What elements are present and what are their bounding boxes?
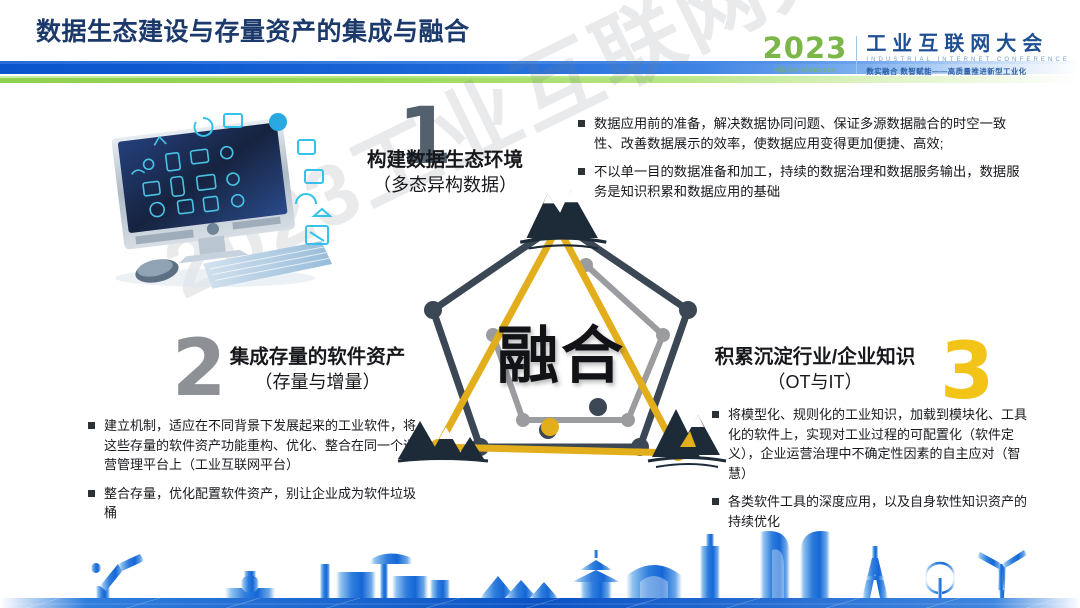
bullet-text: 建立机制，适应在不同背景下发展起来的工业软件，将这些存量的软件资产功能重构、优化… xyxy=(104,416,418,475)
bullet-text: 将模型化、规则化的工业知识，加载到模块化、工具化的软件上，实现对工业过程的可配置… xyxy=(728,405,1032,483)
conference-logo: 2023 中国·苏州 9月14日-16日 工业互联网大会 INDUSTRIAL … xyxy=(763,34,1070,77)
bullet-square-icon xyxy=(88,422,95,429)
logo-name-en: INDUSTRIAL INTERNET CONFERENCE xyxy=(866,57,1070,63)
logo-name-cn: 工业互联网大会 xyxy=(866,34,1070,55)
logo-tagline: 数实融合 数智赋能——高质量推进新型工业化 xyxy=(866,66,1070,77)
bullet-text: 整合存量，优化配置软件资产，别让企业成为软件垃圾桶 xyxy=(104,484,418,523)
bullet-square-icon xyxy=(578,120,585,127)
list-item: 整合存量，优化配置软件资产，别让企业成为软件垃圾桶 xyxy=(88,484,418,523)
bullet-text: 数据应用前的准备，解决数据协同问题、保证多源数据融合的时空一致性、改善数据展示的… xyxy=(594,114,1026,153)
slide: 数据生态建设与存量资产的集成与融合 2023 中国·苏州 9月14日-16日 工… xyxy=(0,0,1080,608)
section-heading-2: 集成存量的软件资产 （存量与增量） xyxy=(205,345,430,395)
bullet-list-2: 建立机制，适应在不同背景下发展起来的工业软件，将这些存量的软件资产功能重构、优化… xyxy=(88,416,418,532)
list-item: 各类软件工具的深度应用，以及自身软性知识资产的持续优化 xyxy=(712,492,1032,531)
page-title: 数据生态建设与存量资产的集成与融合 xyxy=(36,12,470,48)
logo-year-block: 2023 中国·苏州 9月14日-16日 xyxy=(763,34,857,74)
section-heading-2-subtitle: （存量与增量） xyxy=(205,370,430,394)
desktop-computer-icon xyxy=(100,108,335,293)
section-number-3: 3 xyxy=(940,333,994,411)
logo-name-block: 工业互联网大会 INDUSTRIAL INTERNET CONFERENCE 数… xyxy=(857,34,1070,77)
bullet-list-3: 将模型化、规则化的工业知识，加载到模块化、工具化的软件上，实现对工业过程的可配置… xyxy=(712,405,1032,540)
section-heading-1-title: 构建数据生态环境 xyxy=(330,148,560,173)
bullet-square-icon xyxy=(88,490,95,497)
list-item: 建立机制，适应在不同背景下发展起来的工业软件，将这些存量的软件资产功能重构、优化… xyxy=(88,416,418,475)
logo-year-subtitle: 中国·苏州 9月14日-16日 xyxy=(763,67,848,74)
city-skyline-icon xyxy=(0,528,1080,608)
section-heading-2-title: 集成存量的软件资产 xyxy=(205,345,430,370)
list-item: 数据应用前的准备，解决数据协同问题、保证多源数据融合的时空一致性、改善数据展示的… xyxy=(578,114,1026,153)
bullet-text: 各类软件工具的深度应用，以及自身软性知识资产的持续优化 xyxy=(728,492,1032,531)
list-item: 将模型化、规则化的工业知识，加载到模块化、工具化的软件上，实现对工业过程的可配置… xyxy=(712,405,1032,483)
center-label: 融合 xyxy=(497,305,625,395)
logo-year: 2023 xyxy=(763,34,848,63)
